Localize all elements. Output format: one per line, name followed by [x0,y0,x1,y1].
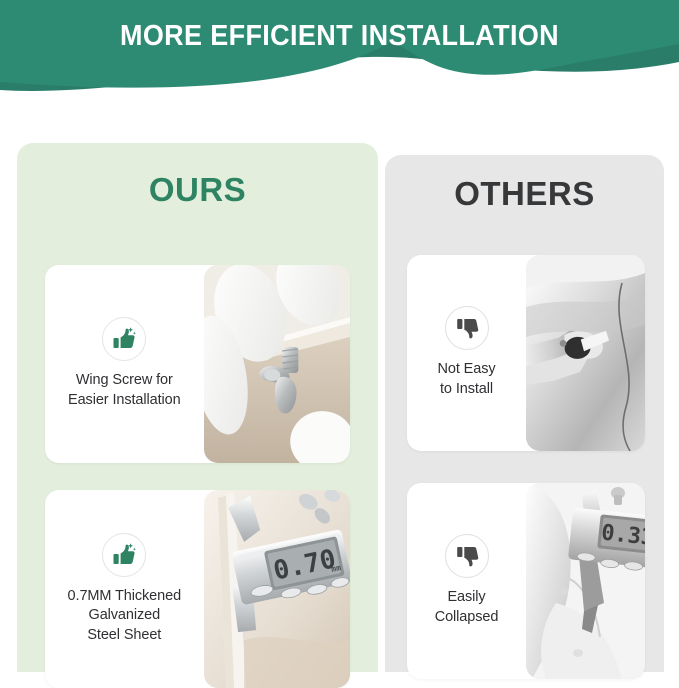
pliers-thin-metal-photo [526,255,645,451]
thumbs-up-sparkle-icon [102,317,146,361]
panel-ours: OURS Wing Screw for Easier Installation [17,143,378,672]
thumbs-down-icon [445,306,489,350]
digital-caliper-thin-sheet-photo: 0.33 mm [526,483,645,679]
panel-others-title: OTHERS [385,175,664,213]
card-ours-steel-thickness[interactable]: 0.7MM Thickened Galvanized Steel Sheet [45,490,350,688]
panel-others: OTHERS Not Easy to Install [385,155,664,672]
card-text-block: Wing Screw for Easier Installation [45,265,204,463]
comparison-area: OURS Wing Screw for Easier Installation [0,100,679,679]
card-text-block: 0.7MM Thickened Galvanized Steel Sheet [45,490,204,688]
panel-ours-title: OURS [17,171,378,209]
card-others-not-easy-install[interactable]: Not Easy to Install [407,255,645,451]
card-label: Not Easy to Install [437,360,495,399]
header-banner: MORE EFFICIENT INSTALLATION [0,0,679,100]
card-label: Easily Collapsed [435,588,499,627]
card-text-block: Not Easy to Install [407,255,526,451]
card-text-block: Easily Collapsed [407,483,526,679]
thumbs-down-icon [445,534,489,578]
digital-caliper-steel-sheet-photo: 0.70 mm [204,490,350,688]
card-label: 0.7MM Thickened Galvanized Steel Sheet [68,587,181,646]
page-title: MORE EFFICIENT INSTALLATION [24,0,655,72]
card-ours-wing-screw[interactable]: Wing Screw for Easier Installation [45,265,350,463]
gloved-hand-wing-screw-photo [204,265,350,463]
thumbs-up-sparkle-icon [102,533,146,577]
card-label: Wing Screw for Easier Installation [68,371,181,410]
card-others-easily-collapsed[interactable]: Easily Collapsed [407,483,645,679]
